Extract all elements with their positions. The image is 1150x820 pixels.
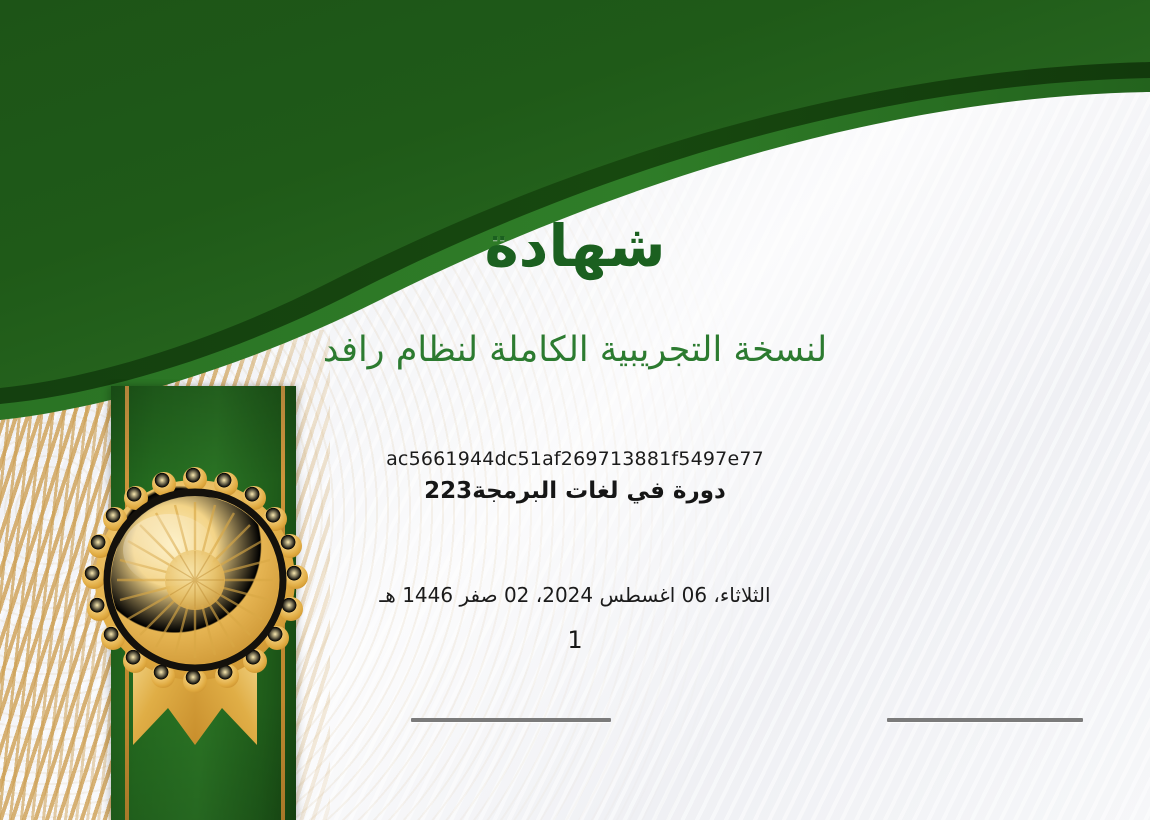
signature-line-left [411,718,611,722]
certificate-page: شهادة لنسخة التجريبية الكاملة لنظام رافد… [0,0,1150,820]
certificate-course-name: دورة في لغات البرمجة223 [0,478,1150,504]
certificate-number: 1 [0,626,1150,654]
certificate-title: شهادة [0,212,1150,280]
certificate-date: الثلاثاء، 06 اغسطس 2024، 02 صفر 1446 هـ [0,583,1150,607]
certificate-subtitle: لنسخة التجريبية الكاملة لنظام رافد [0,330,1150,370]
certificate-verification-hash: ac5661944dc51af269713881f5497e77 [0,448,1150,470]
award-medal-icon [70,462,320,752]
signature-line-right [887,718,1083,722]
